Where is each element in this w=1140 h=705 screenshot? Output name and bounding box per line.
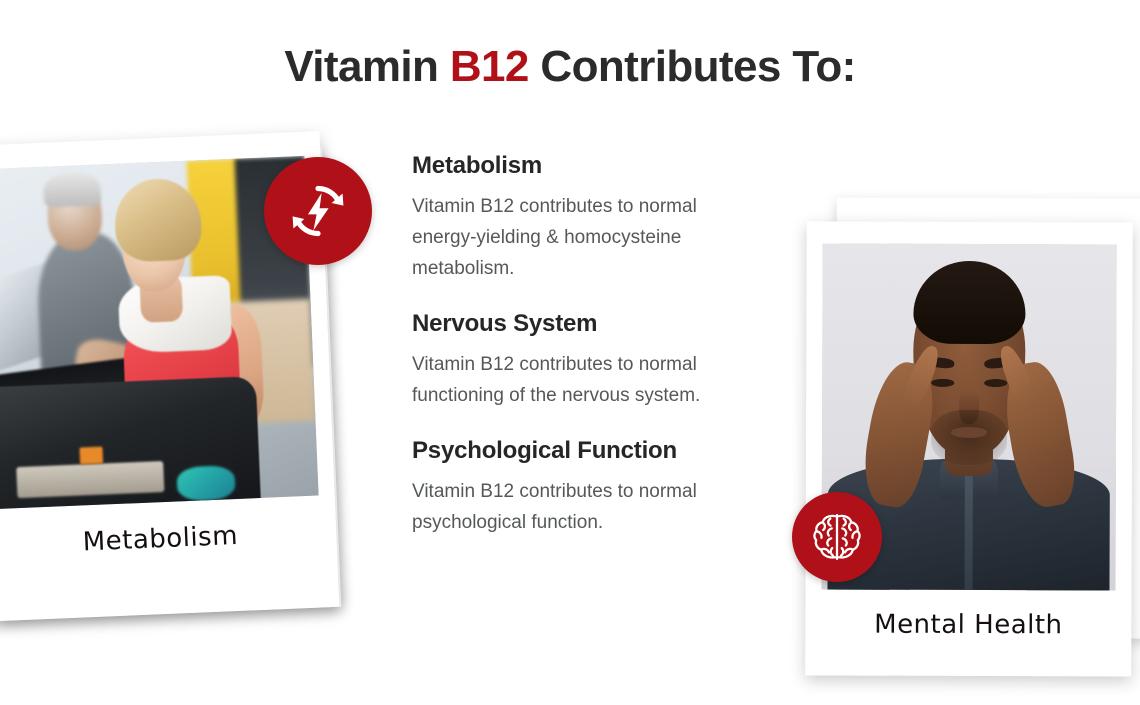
benefit-item-nervous-system: Nervous System Vitamin B12 contributes t… [412,310,764,411]
treadmill-button-panel [16,461,164,498]
page-title-prefix: Vitamin [284,42,450,91]
shirt-placket [964,472,973,590]
benefit-body: Vitamin B12 contributes to normal psycho… [412,476,764,538]
lips [951,427,986,437]
mental-health-photo-caption: Mental Health [805,609,1131,640]
metabolism-photo-caption: Metabolism [0,517,337,562]
metabolism-badge [264,157,372,265]
benefit-item-psychological-function: Psychological Function Vitamin B12 contr… [412,437,764,538]
beard [931,410,1008,466]
page-title-suffix: Contributes To: [529,42,856,91]
benefit-item-metabolism: Metabolism Vitamin B12 contributes to no… [412,152,764,284]
energy-refresh-icon [286,179,350,243]
page-title: Vitamin B12 Contributes To: [0,42,1140,92]
mental-health-photo-card-group: Mental Health [805,197,1140,686]
benefit-title: Metabolism [412,152,764,180]
brain-icon [809,509,865,565]
infographic-canvas: Vitamin B12 Contributes To: [0,0,1140,705]
page-title-accent: B12 [450,42,529,91]
treadmill-orange-accent [80,447,103,465]
benefits-list: Metabolism Vitamin B12 contributes to no… [412,152,764,538]
mental-health-badge [792,492,882,582]
mental-health-polaroid-frame: Mental Health [805,221,1133,676]
gym-teal-accent [177,465,236,501]
left-closed-eye [931,379,955,387]
benefit-title: Nervous System [412,310,764,338]
right-closed-eye [984,379,1008,387]
benefit-title: Psychological Function [412,437,764,465]
benefit-body: Vitamin B12 contributes to normal energy… [412,191,764,284]
benefit-body: Vitamin B12 contributes to normal functi… [412,349,764,411]
